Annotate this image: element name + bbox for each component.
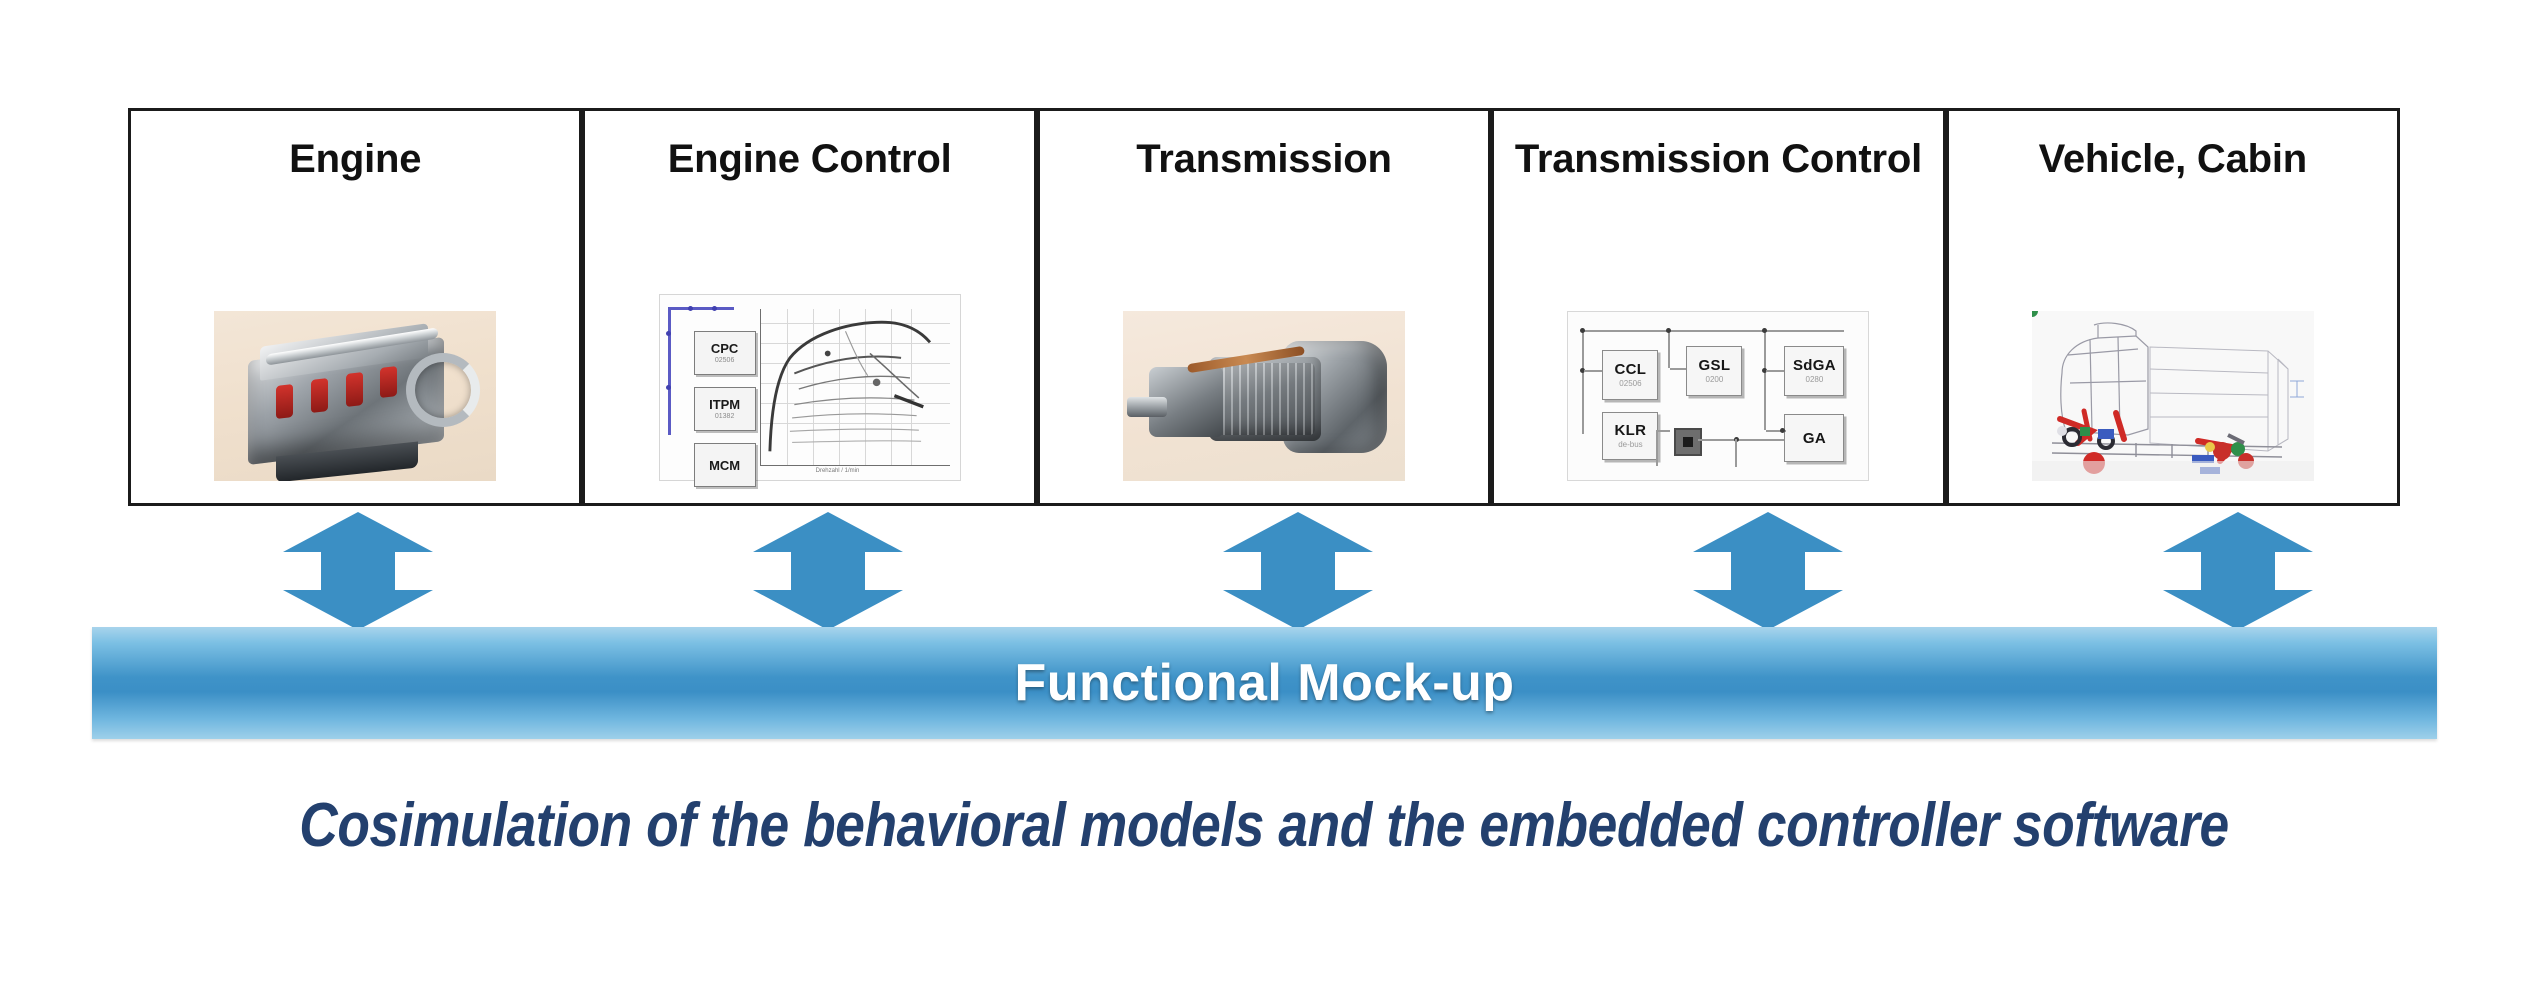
tc-block-ga: GA bbox=[1784, 414, 1844, 462]
engine-control-schematic: CPC 02506 ITPM 01382 MCM bbox=[659, 294, 961, 481]
component-box-transmission-control[interactable]: Transmission Control CCL 02506 bbox=[1491, 108, 1945, 506]
ec-block-itpm: ITPM 01382 bbox=[694, 387, 756, 431]
tc-stub bbox=[1670, 368, 1686, 370]
connector-arrow-row bbox=[128, 512, 2400, 632]
arrow-engine[interactable] bbox=[283, 512, 433, 630]
component-title-engine: Engine bbox=[149, 137, 562, 182]
component-box-transmission[interactable]: Transmission bbox=[1037, 108, 1491, 506]
tc-block-gsl-name: GSL bbox=[1699, 358, 1731, 373]
tc-chip-drop bbox=[1735, 439, 1737, 467]
double-arrow-icon bbox=[1223, 512, 1373, 630]
tc-chip-icon bbox=[1674, 428, 1702, 456]
tc-klr-stub bbox=[1656, 430, 1670, 432]
bus-node-icon bbox=[712, 306, 717, 311]
double-arrow-icon bbox=[1693, 512, 1843, 630]
tc-block-ga-name: GA bbox=[1803, 431, 1826, 446]
tc-block-ccl: CCL 02506 bbox=[1602, 350, 1658, 400]
arrow-engine-control[interactable] bbox=[753, 512, 903, 630]
vehicle-cabin-thumb bbox=[2032, 311, 2314, 481]
bus-node-icon bbox=[1580, 328, 1585, 333]
ec-block-itpm-name: ITPM bbox=[709, 398, 740, 411]
bus-node-icon bbox=[1762, 328, 1767, 333]
transmission-photo-thumb bbox=[1123, 311, 1405, 481]
engine-injector-shape bbox=[276, 384, 293, 419]
tc-chip-link bbox=[1698, 439, 1784, 441]
engine-control-bus-vertical bbox=[668, 307, 671, 435]
bus-node-icon bbox=[666, 331, 671, 336]
engine-injector-shape bbox=[380, 366, 397, 398]
tc-block-sdga-sub: 0280 bbox=[1806, 376, 1824, 384]
component-title-transmission-control: Transmission Control bbox=[1512, 137, 1925, 182]
transmission-output-shaft-shape bbox=[1127, 397, 1167, 417]
ec-block-cpc-sub: 02506 bbox=[715, 357, 734, 364]
tc-block-gsl-sub: 0200 bbox=[1706, 376, 1724, 384]
double-arrow-icon bbox=[283, 512, 433, 630]
tc-block-klr-name: KLR bbox=[1615, 423, 1647, 438]
component-title-vehicle-cabin: Vehicle, Cabin bbox=[1967, 137, 2380, 182]
engine-photo-image bbox=[214, 311, 496, 481]
engine-control-thumb: CPC 02506 ITPM 01382 MCM bbox=[659, 294, 961, 481]
tc-block-klr-sub: de-bus bbox=[1618, 441, 1642, 449]
ec-block-itpm-sub: 01382 bbox=[715, 413, 734, 420]
figure-caption: Cosimulation of the behavioral models an… bbox=[177, 790, 2351, 861]
tc-block-ccl-name: CCL bbox=[1615, 362, 1647, 377]
bus-node-icon bbox=[688, 306, 693, 311]
tc-klr-drop bbox=[1656, 430, 1658, 466]
tc-stub bbox=[1766, 370, 1784, 372]
tc-block-ccl-sub: 02506 bbox=[1619, 380, 1641, 388]
bus-node-icon bbox=[1666, 328, 1671, 333]
tc-bus-mid-vertical bbox=[1668, 330, 1670, 368]
functional-mockup-bar[interactable]: Functional Mock-up bbox=[92, 627, 2437, 739]
double-arrow-icon bbox=[753, 512, 903, 630]
component-box-engine[interactable]: Engine bbox=[128, 108, 582, 506]
transmission-control-thumb: CCL 02506 GSL 0200 SdGA 0280 KLR de-bus … bbox=[1567, 311, 1869, 481]
transmission-control-schematic: CCL 02506 GSL 0200 SdGA 0280 KLR de-bus … bbox=[1567, 311, 1869, 481]
engine-control-bus-horizontal bbox=[668, 307, 734, 310]
ec-block-mcm: MCM bbox=[694, 443, 756, 487]
engine-control-block-column: CPC 02506 ITPM 01382 MCM bbox=[660, 295, 756, 480]
transmission-photo-image bbox=[1123, 311, 1405, 481]
ec-block-cpc-name: CPC bbox=[711, 342, 738, 355]
engine-turbo-shape bbox=[406, 353, 480, 427]
tc-bus-left-vertical bbox=[1582, 330, 1584, 434]
bus-node-icon bbox=[666, 385, 671, 390]
double-arrow-icon bbox=[2163, 512, 2313, 630]
tc-bus-horizontal bbox=[1582, 330, 1844, 332]
tc-stub bbox=[1584, 370, 1602, 372]
ec-block-cpc: CPC 02506 bbox=[694, 331, 756, 375]
engine-injector-shape bbox=[311, 378, 328, 413]
engine-injector-shape bbox=[346, 372, 363, 407]
bus-node-icon bbox=[1780, 428, 1785, 433]
component-box-vehicle-cabin[interactable]: Vehicle, Cabin bbox=[1946, 108, 2400, 506]
ec-block-mcm-name: MCM bbox=[709, 459, 740, 472]
component-box-row: Engine Engine Control bbox=[128, 108, 2400, 506]
component-title-engine-control: Engine Control bbox=[603, 137, 1016, 182]
tc-block-sdga-name: SdGA bbox=[1793, 358, 1836, 373]
tc-block-sdga: SdGA 0280 bbox=[1784, 346, 1844, 396]
engine-map-xlabel: Drehzahl / 1/min bbox=[816, 468, 860, 474]
vehicle-wireframe-svg bbox=[2032, 311, 2314, 481]
tc-block-gsl: GSL 0200 bbox=[1686, 346, 1742, 396]
engine-map-curves bbox=[761, 309, 950, 456]
tc-bus-right-vertical bbox=[1764, 330, 1766, 430]
arrow-transmission[interactable] bbox=[1223, 512, 1373, 630]
component-box-engine-control[interactable]: Engine Control CPC 02506 ITPM bbox=[582, 108, 1036, 506]
arrow-vehicle-cabin[interactable] bbox=[2163, 512, 2313, 630]
vehicle-cabin-image bbox=[2032, 311, 2314, 481]
engine-map-chart: Drehzahl / 1/min bbox=[760, 309, 950, 466]
tc-block-klr: KLR de-bus bbox=[1602, 412, 1658, 460]
engine-photo-thumb bbox=[214, 311, 496, 481]
component-title-transmission: Transmission bbox=[1058, 137, 1471, 182]
functional-mockup-label: Functional Mock-up bbox=[1014, 653, 1514, 713]
arrow-transmission-control[interactable] bbox=[1693, 512, 1843, 630]
transmission-ribs-shape bbox=[1215, 363, 1315, 435]
